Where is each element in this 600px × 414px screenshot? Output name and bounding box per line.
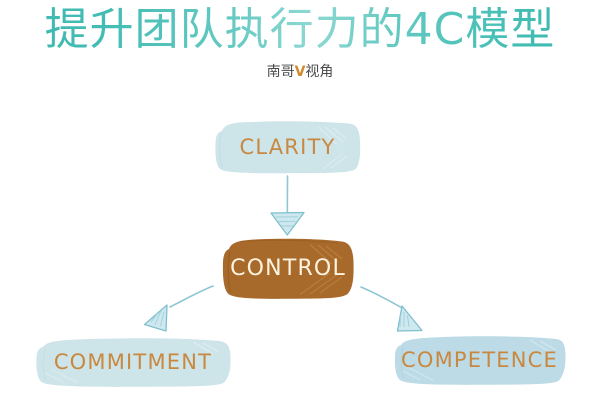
edge-control-to-competence xyxy=(361,287,422,331)
node-competence[interactable]: COMPETENCE xyxy=(392,334,567,386)
node-control-label: CONTROL xyxy=(230,256,346,281)
node-clarity[interactable]: CLARITY xyxy=(213,119,362,175)
node-competence-label: COMPETENCE xyxy=(401,348,558,372)
edge-clarity-to-control xyxy=(271,176,304,235)
node-clarity-label: CLARITY xyxy=(239,135,335,159)
4c-model-diagram: CLARITY CONTROL COMMITMENT COMPETENCE xyxy=(0,0,600,414)
node-commitment-label: COMMITMENT xyxy=(54,350,212,374)
edge-control-to-commitment xyxy=(145,286,214,331)
node-commitment[interactable]: COMMITMENT xyxy=(33,336,233,388)
node-control[interactable]: CONTROL xyxy=(220,236,356,301)
